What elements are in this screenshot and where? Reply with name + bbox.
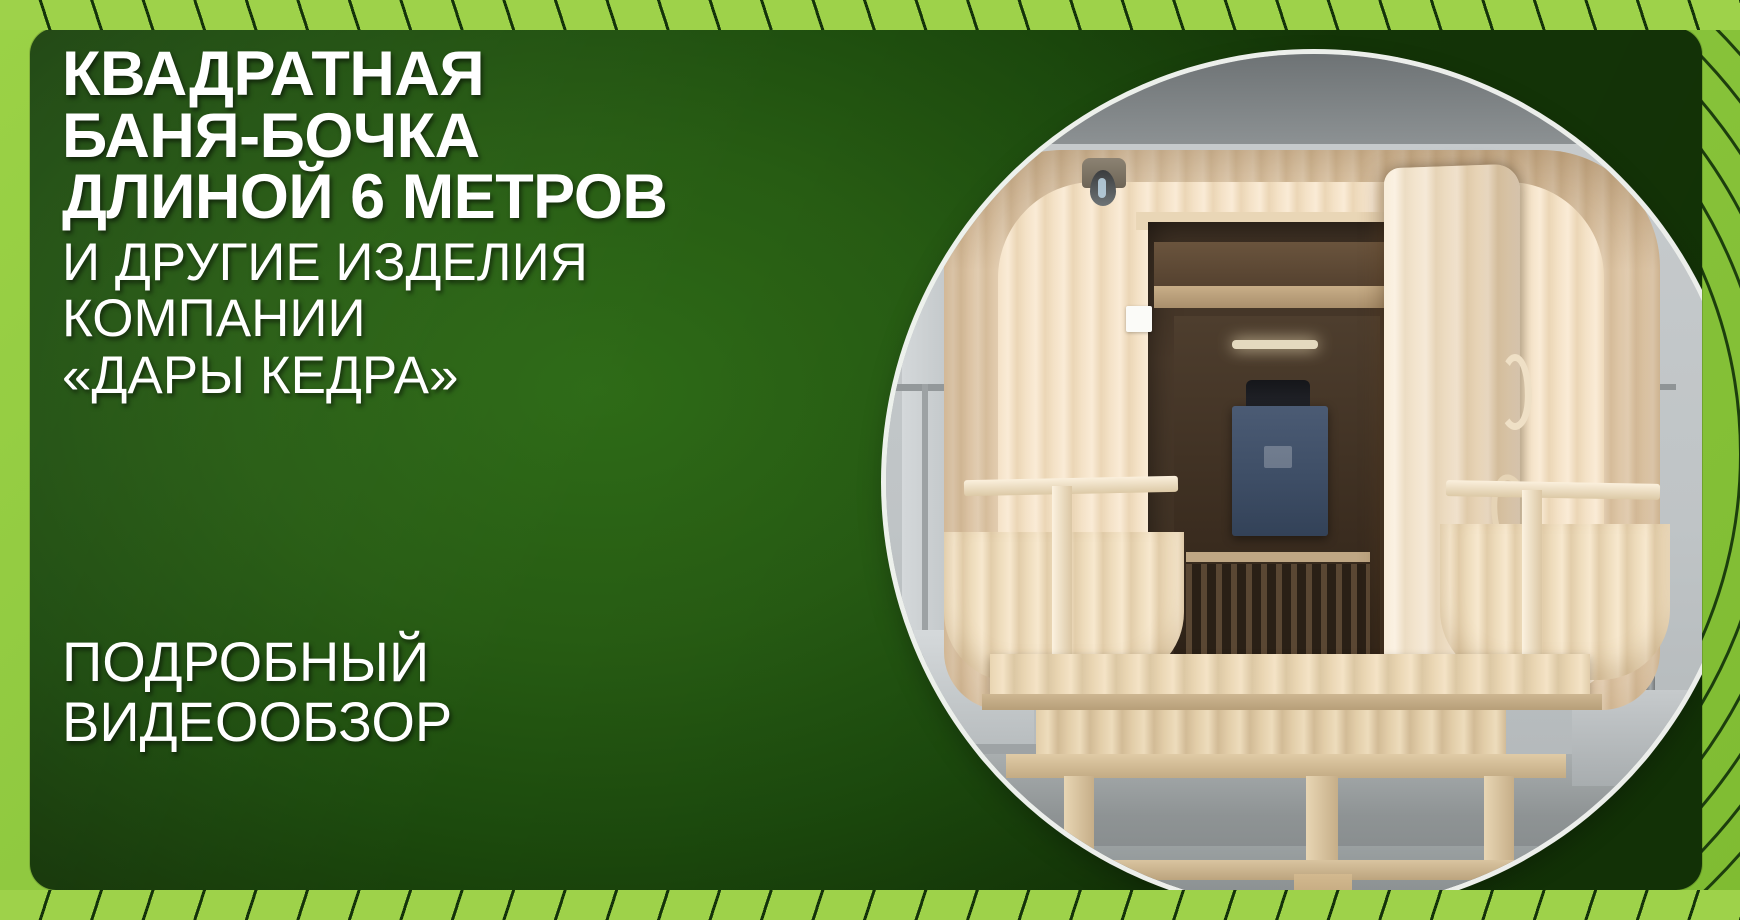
product-photo-circle xyxy=(886,54,1702,890)
photo-workshop-ceiling xyxy=(886,54,1702,144)
photo-door-handle xyxy=(1498,354,1532,430)
photo-railing-post-right xyxy=(1522,490,1542,670)
dark-green-panel: КВАДРАТНАЯ БАНЯ-БОЧКА ДЛИНОЙ 6 МЕТРОВ И … xyxy=(30,28,1702,890)
subhead-line-3: «ДАРЫ КЕДРА» xyxy=(62,348,822,404)
photo-door-lintel xyxy=(1154,242,1400,288)
photo-sauna-heater xyxy=(1232,406,1328,536)
photo-interior-light xyxy=(1232,340,1318,349)
photo-support-beam-lower xyxy=(1026,860,1546,880)
subhead-line-2: КОМПАНИИ xyxy=(62,291,822,347)
headline-block: КВАДРАТНАЯ БАНЯ-БОЧКА ДЛИНОЙ 6 МЕТРОВ И … xyxy=(62,44,822,404)
photo-heater-badge xyxy=(1264,446,1292,468)
headline-line-3: ДЛИНОЙ 6 МЕТРОВ xyxy=(62,167,822,229)
subtitle: И ДРУГИЕ ИЗДЕЛИЯ КОМПАНИИ «ДАРЫ КЕДРА» xyxy=(62,235,822,404)
cta-line-2: ВИДЕООБЗОР xyxy=(62,692,762,752)
cta-line-1: ПОДРОБНЫЙ xyxy=(62,632,762,692)
poster-root: КВАДРАТНАЯ БАНЯ-БОЧКА ДЛИНОЙ 6 МЕТРОВ И … xyxy=(0,0,1740,920)
headline-line-2: БАНЯ-БОЧКА xyxy=(62,106,822,168)
photo-deck-edge xyxy=(982,694,1602,710)
headline-line-1: КВАДРАТНАЯ xyxy=(62,44,822,106)
photo-deck-skirt xyxy=(1036,710,1506,754)
call-to-action-text: ПОДРОБНЫЙ ВИДЕООБЗОР xyxy=(62,632,762,753)
photo-interior-bench-rail xyxy=(1186,552,1370,562)
page-title: КВАДРАТНАЯ БАНЯ-БОЧКА ДЛИНОЙ 6 МЕТРОВ xyxy=(62,44,822,229)
photo-wall-lamp-glint xyxy=(1098,178,1106,198)
photo-door-header-trim xyxy=(1154,286,1400,308)
subhead-line-1: И ДРУГИЕ ИЗДЕЛИЯ xyxy=(62,235,822,291)
photo-support-beam-upper xyxy=(1006,754,1566,778)
photo-deck-floor xyxy=(990,654,1590,696)
photo-support-block xyxy=(1294,874,1352,890)
photo-wall-switch xyxy=(1126,306,1152,332)
